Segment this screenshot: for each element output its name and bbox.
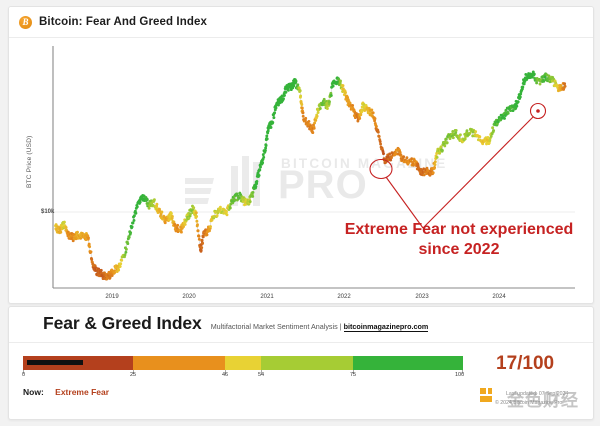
fear-greed-data-point	[432, 171, 435, 174]
fear-greed-data-point	[136, 205, 139, 208]
fear-greed-data-point	[153, 198, 156, 201]
fear-greed-data-point	[164, 221, 167, 224]
fear-greed-data-point	[519, 96, 522, 99]
fear-greed-data-point	[402, 155, 405, 158]
fear-greed-data-point	[100, 269, 103, 272]
fear-greed-data-point	[171, 215, 174, 218]
fear-greed-data-point	[313, 121, 316, 124]
fear-greed-data-point	[198, 235, 201, 238]
fear-greed-data-point	[452, 136, 455, 139]
gauge-value-indicator	[27, 360, 83, 365]
fear-greed-data-point	[201, 239, 204, 242]
gauge-tick-25: 25	[130, 372, 136, 378]
fear-greed-data-point	[377, 131, 380, 134]
fear-greed-data-point	[88, 245, 91, 248]
fear-greed-data-point	[132, 221, 135, 224]
fear-greed-data-point	[283, 94, 286, 97]
fear-greed-data-point	[440, 145, 443, 148]
fear-greed-data-point	[466, 129, 469, 132]
fear-greed-data-point	[160, 211, 163, 214]
fear-greed-data-point	[372, 111, 375, 114]
current-point-dot	[536, 109, 540, 113]
index-score: 17/100	[496, 353, 554, 375]
fear-greed-data-point	[124, 251, 127, 254]
fear-greed-data-point	[258, 169, 261, 172]
fear-greed-data-point	[195, 211, 198, 214]
fear-greed-data-point	[301, 107, 304, 110]
fear-greed-data-point	[307, 120, 310, 123]
screenshot-root: B Bitcoin: Fear And Greed Index BITCOIN …	[0, 0, 600, 426]
fear-greed-data-point	[515, 105, 518, 108]
fear-greed-data-point	[405, 156, 408, 159]
fear-greed-data-point	[139, 201, 142, 204]
gauge-segment-neutral	[225, 356, 260, 370]
x-axis-tick-2023: 2023	[407, 294, 437, 300]
index-subtitle-prefix: Multifactorial Market Sentiment Analysis…	[211, 322, 344, 331]
fear-greed-data-point	[264, 147, 267, 150]
fear-greed-data-point	[195, 215, 198, 218]
fear-greed-data-point	[124, 253, 127, 256]
fear-greed-data-point	[249, 200, 252, 203]
gauge-tick-75: 75	[350, 372, 356, 378]
gauge-segment-extreme-greed	[353, 356, 463, 370]
fear-greed-data-point	[170, 212, 173, 215]
fear-greed-data-point	[455, 129, 458, 132]
index-subtitle: Multifactorial Market Sentiment Analysis…	[211, 322, 429, 331]
fear-greed-data-point	[299, 89, 302, 92]
fear-greed-data-point	[533, 73, 536, 76]
gauge-tick-0: 0	[22, 372, 25, 378]
card-header: B Bitcoin: Fear And Greed Index	[9, 7, 593, 38]
fear-greed-data-point	[539, 83, 542, 86]
chart-area: BITCOIN MAGAZINE PRO	[9, 38, 593, 303]
fear-greed-data-point	[113, 271, 116, 274]
fear-greed-data-point	[436, 156, 439, 159]
fear-greed-data-point	[441, 149, 444, 152]
fear-greed-data-point	[258, 174, 261, 177]
fear-greed-data-point	[316, 115, 319, 118]
leader-line-right	[423, 117, 533, 228]
fear-greed-data-point	[378, 135, 381, 138]
fear-greed-data-point	[375, 125, 378, 128]
fear-greed-data-point	[197, 229, 200, 232]
fear-greed-data-point	[133, 219, 136, 222]
page-title: Bitcoin: Fear And Greed Index	[39, 16, 207, 28]
fear-greed-data-point	[523, 82, 526, 85]
fear-greed-data-point	[358, 117, 361, 120]
fear-greed-data-point	[299, 95, 302, 98]
fear-greed-data-point	[65, 226, 68, 229]
gauge-tick-54: 54	[258, 372, 264, 378]
fear-greed-data-point	[503, 117, 506, 120]
fear-greed-data-point	[200, 249, 203, 252]
fear-greed-data-point	[521, 86, 524, 89]
bitcoin-icon: B	[19, 16, 32, 29]
fear-greed-gauge	[23, 356, 463, 370]
fear-greed-data-point	[332, 85, 335, 88]
fear-greed-data-point	[226, 213, 229, 216]
fear-greed-data-point	[434, 160, 437, 163]
fear-greed-data-point	[63, 221, 66, 224]
fear-greed-data-point	[317, 111, 320, 114]
fear-greed-data-point	[254, 185, 257, 188]
fear-greed-data-point	[323, 98, 326, 101]
fear-greed-data-point	[117, 269, 120, 272]
fear-greed-data-point	[265, 144, 268, 147]
fear-greed-data-point	[88, 243, 91, 246]
fear-greed-data-point	[90, 250, 93, 253]
fear-greed-data-point	[148, 207, 151, 210]
fear-greed-data-point	[275, 106, 278, 109]
fear-greed-data-point	[133, 214, 136, 217]
fear-greed-data-point	[180, 231, 183, 234]
fear-greed-data-point	[119, 265, 122, 268]
fear-greed-data-point	[184, 223, 187, 226]
fear-greed-data-point	[261, 161, 264, 164]
fear-greed-data-point	[563, 82, 566, 85]
fear-greed-data-point	[474, 130, 477, 133]
fear-greed-data-point	[382, 152, 385, 155]
fear-greed-data-point	[434, 163, 437, 166]
status-badge: Extreme Fear	[55, 387, 109, 397]
fear-greed-data-point	[202, 235, 205, 238]
fear-greed-data-point	[492, 129, 495, 132]
fear-greed-data-point	[125, 248, 128, 251]
index-title: Fear & Greed Index	[43, 313, 202, 334]
last-updated-text: Last updated: 07 Sep 2024	[506, 391, 568, 397]
gauge-segment-fear	[133, 356, 225, 370]
fear-greed-data-point	[206, 233, 209, 236]
fear-greed-data-point	[128, 236, 131, 239]
fear-greed-data-point	[270, 126, 273, 129]
y-axis-label: BTC Price (USD)	[26, 136, 33, 188]
fear-greed-data-point	[319, 107, 322, 110]
fear-greed-data-point	[478, 135, 481, 138]
fear-greed-data-point	[328, 100, 331, 103]
fear-greed-data-point	[192, 206, 195, 209]
fear-greed-data-point	[351, 104, 354, 107]
fear-greed-data-point	[295, 80, 298, 83]
fear-greed-data-point	[443, 144, 446, 147]
index-source-link[interactable]: bitcoinmagazinepro.com	[344, 322, 429, 332]
gauge-row: 0 25 46 54 75 100 Now: Extreme Fear 17/1…	[9, 343, 593, 419]
fear-greed-chart-card: B Bitcoin: Fear And Greed Index BITCOIN …	[8, 6, 594, 304]
fear-greed-data-point	[517, 100, 520, 103]
fear-greed-data-point	[198, 238, 201, 241]
fear-greed-data-point	[302, 115, 305, 118]
fear-greed-data-point	[216, 214, 219, 217]
index-header: Fear & Greed Index Multifactorial Market…	[9, 307, 593, 343]
x-axis-tick-2024: 2024	[484, 294, 514, 300]
fear-greed-data-point	[200, 246, 203, 249]
fear-greed-data-point	[262, 156, 265, 159]
fear-greed-data-point	[330, 94, 333, 97]
copyright-text: © 2024 Bitcoin Magazine Pro.	[495, 400, 564, 406]
fear-greed-data-point	[313, 127, 316, 130]
fear-greed-data-point	[535, 81, 538, 84]
fear-greed-data-point	[300, 103, 303, 106]
fear-greed-data-point	[326, 107, 329, 110]
fear-greed-data-point	[79, 237, 82, 240]
fear-greed-data-point	[266, 137, 269, 140]
now-label: Now:	[23, 387, 44, 397]
fear-greed-data-point	[287, 89, 290, 92]
fear-greed-data-point	[374, 117, 377, 120]
annotation-graphics	[370, 104, 546, 229]
fear-greed-data-point	[225, 210, 228, 213]
fear-greed-data-point	[390, 156, 393, 159]
chinese-site-watermark: 金色财经	[507, 386, 579, 411]
fear-greed-data-point	[189, 213, 192, 216]
fear-greed-data-point	[255, 180, 258, 183]
fear-greed-data-point	[176, 224, 179, 227]
fear-greed-data-point	[507, 112, 510, 115]
gauge-tick-100: 100	[455, 372, 464, 378]
fear-greed-data-point	[433, 166, 436, 169]
fear-greed-data-point	[544, 76, 547, 79]
fear-greed-data-point	[259, 166, 262, 169]
fear-greed-data-point	[134, 212, 137, 215]
fear-greed-data-point	[344, 91, 347, 94]
fear-greed-data-point	[195, 220, 198, 223]
fear-greed-data-point	[273, 111, 276, 114]
fear-greed-data-point	[282, 97, 285, 100]
x-axis-tick-2020: 2020	[174, 294, 204, 300]
gauge-segment-greed	[261, 356, 353, 370]
fear-greed-data-point	[87, 236, 90, 239]
x-axis-tick-2022: 2022	[329, 294, 359, 300]
x-axis-tick-2019: 2019	[97, 294, 127, 300]
fear-greed-data-point	[126, 242, 129, 245]
fear-greed-data-point	[252, 191, 255, 194]
btc-price-fear-greed-plot	[9, 38, 593, 303]
y-axis-tick-10k: $10k	[41, 209, 54, 215]
fear-greed-data-point	[146, 198, 149, 201]
fear-greed-data-point	[292, 84, 295, 87]
fear-greed-data-point	[491, 126, 494, 129]
gauge-tick-46: 46	[222, 372, 228, 378]
fear-greed-data-point	[265, 134, 268, 137]
highlight-circle-2022	[370, 160, 392, 179]
fear-greed-data-point	[459, 133, 462, 136]
fear-greed-data-point	[129, 231, 132, 234]
fear-greed-data-point	[379, 140, 382, 143]
fear-greed-data-point	[449, 137, 452, 140]
fear-greed-data-point	[564, 85, 567, 88]
fear-greed-data-point	[379, 143, 382, 146]
fear-greed-data-point	[119, 262, 122, 265]
fear-greed-index-card: Fear & Greed Index Multifactorial Market…	[8, 306, 594, 420]
fear-greed-data-point	[311, 131, 314, 134]
fear-greed-data-point	[490, 135, 493, 138]
fear-greed-data-point	[284, 91, 287, 94]
fear-greed-data-point	[339, 80, 342, 83]
fear-greed-data-point	[196, 223, 199, 226]
fear-greed-data-point	[446, 141, 449, 144]
chart-annotation-text: Extreme Fear not experienced since 2022	[339, 220, 579, 260]
fear-greed-data-point	[251, 195, 254, 198]
fear-greed-data-point	[342, 84, 345, 87]
fear-greed-data-point	[296, 83, 299, 86]
fear-greed-data-point	[131, 225, 134, 228]
current-status-row: Now: Extreme Fear	[23, 387, 109, 397]
fear-greed-data-point	[229, 207, 232, 210]
fear-greed-data-point	[120, 259, 123, 262]
fear-greed-data-point	[219, 206, 222, 209]
fear-greed-data-point	[201, 242, 204, 245]
fear-greed-data-point	[209, 225, 212, 228]
fear-greed-data-point	[272, 116, 275, 119]
fear-greed-data-point	[76, 231, 79, 234]
fear-greed-data-point	[59, 231, 62, 234]
x-axis-tick-2021: 2021	[252, 294, 282, 300]
fear-greed-data-point	[155, 203, 158, 206]
fear-greed-data-point	[302, 111, 305, 114]
fear-greed-data-point	[271, 121, 274, 124]
fear-greed-data-point	[304, 117, 307, 120]
fear-greed-data-point	[370, 108, 373, 111]
